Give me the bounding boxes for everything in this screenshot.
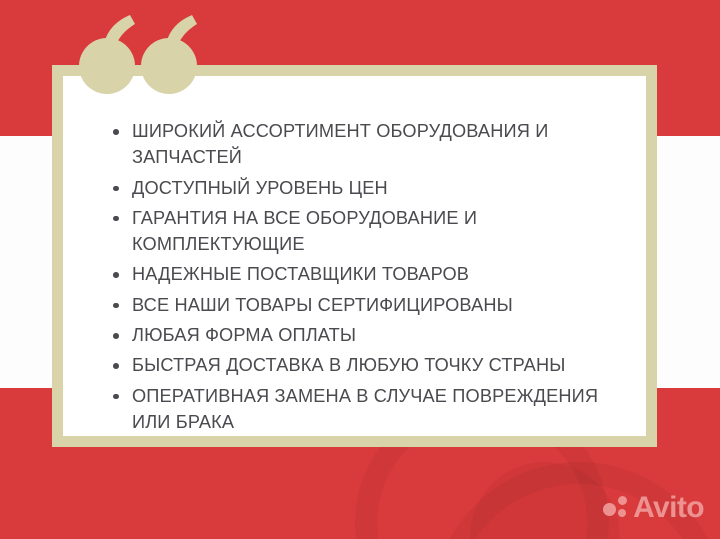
- avito-watermark: Avito: [603, 493, 704, 523]
- features-bullet-list: ШИРОКИЙ АССОРТИМЕНТ ОБОРУДОВАНИЯ И ЗАПЧА…: [108, 118, 624, 439]
- list-item: БЫСТРАЯ ДОСТАВКА В ЛЮБУЮ ТОЧКУ СТРАНЫ: [108, 352, 624, 378]
- avito-dots-icon: [603, 495, 630, 522]
- list-item: ОПЕРАТИВНАЯ ЗАМЕНА В СЛУЧАЕ ПОВРЕЖДЕНИЯ …: [108, 383, 624, 436]
- opening-double-quote-icon: [78, 14, 200, 94]
- list-item: ДОСТУПНЫЙ УРОВЕНЬ ЦЕН: [108, 175, 624, 201]
- list-item: НАДЕЖНЫЕ ПОСТАВЩИКИ ТОВАРОВ: [108, 261, 624, 287]
- list-item: ВСЕ НАШИ ТОВАРЫ СЕРТИФИЦИРОВАНЫ: [108, 292, 624, 318]
- list-item: ЛЮБАЯ ФОРМА ОПЛАТЫ: [108, 322, 624, 348]
- slide-canvas: ШИРОКИЙ АССОРТИМЕНТ ОБОРУДОВАНИЯ И ЗАПЧА…: [0, 0, 720, 539]
- list-item: ШИРОКИЙ АССОРТИМЕНТ ОБОРУДОВАНИЯ И ЗАПЧА…: [108, 118, 624, 171]
- avito-wordmark: Avito: [633, 493, 704, 523]
- quote-card-inner: ШИРОКИЙ АССОРТИМЕНТ ОБОРУДОВАНИЯ И ЗАПЧА…: [63, 76, 646, 436]
- list-item: ГАРАНТИЯ НА ВСЕ ОБОРУДОВАНИЕ И КОМПЛЕКТУ…: [108, 205, 624, 258]
- quote-card-frame: ШИРОКИЙ АССОРТИМЕНТ ОБОРУДОВАНИЯ И ЗАПЧА…: [52, 65, 657, 447]
